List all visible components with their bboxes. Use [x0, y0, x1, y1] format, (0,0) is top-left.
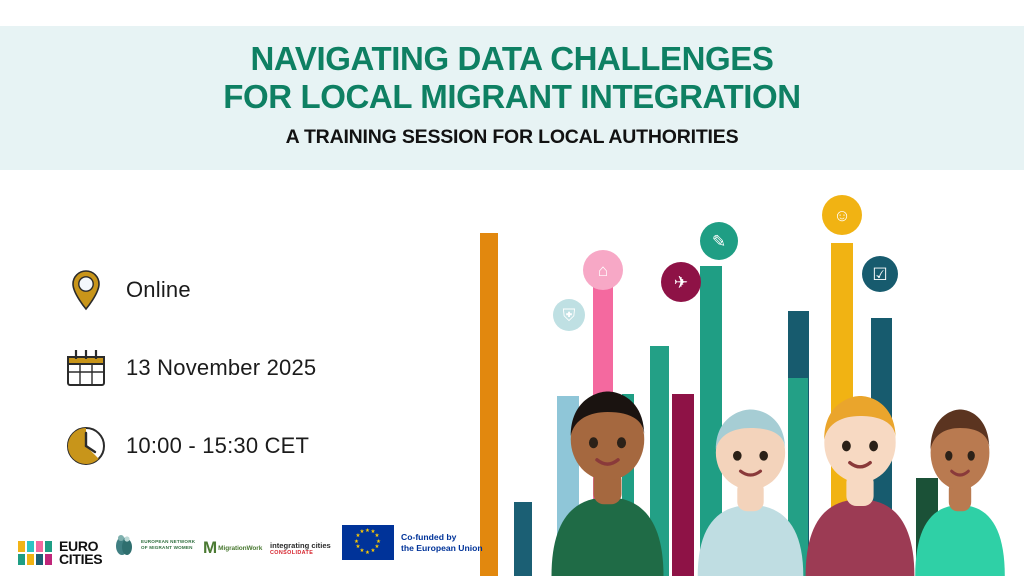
header-text-block: NAVIGATING DATA CHALLENGES FOR LOCAL MIG…: [0, 40, 1024, 149]
detail-row-date: 13 November 2025: [62, 340, 392, 396]
migrationwork-mark-icon: M: [203, 542, 215, 554]
detail-date-label: 13 November 2025: [126, 355, 316, 381]
logo-migrationwork: M MigrationWork: [203, 542, 262, 554]
eurocities-square: [36, 541, 43, 552]
detail-location-label: Online: [126, 277, 191, 303]
eurocities-square: [27, 554, 34, 565]
clock-icon: [62, 422, 110, 470]
eu-star-icon: ★: [371, 549, 376, 554]
poster-canvas: ⛨⌂✈✎☺☑ NAVIGATING DATA CHALLENGES FOR LO…: [0, 0, 1024, 576]
eurocities-square: [36, 554, 43, 565]
shield-health-icon: ⛨: [553, 299, 585, 331]
enomw-line-2: OF MIGRANT WOMEN: [141, 545, 195, 551]
detail-row-location: Online: [62, 262, 392, 318]
eu-star-icon: ★: [355, 545, 360, 550]
eu-star-icon: ★: [365, 551, 370, 556]
eurocities-square: [45, 541, 52, 552]
eu-text-line-1: Co-funded by: [401, 532, 483, 543]
eurocities-square: [18, 554, 25, 565]
eu-star-icon: ★: [354, 540, 359, 545]
teacher-icon: ✎: [700, 222, 738, 260]
integrating-cities-line-2: CONSOLIDATE: [270, 550, 331, 556]
footer-logo-bar: EURO CITIES EUROPEAN NETWORK OF MIGRANT …: [0, 512, 1024, 576]
logo-integrating-cities: integrating cities CONSOLIDATE: [270, 541, 331, 556]
eu-star-icon: ★: [365, 529, 370, 534]
speaker-person-icon: ☺: [822, 195, 862, 235]
event-details-list: Online 13 November 2025: [62, 262, 392, 496]
eu-star-icon: ★: [360, 530, 365, 535]
integrating-cities-line-1: integrating cities: [270, 541, 331, 550]
eu-text-line-2: the European Union: [401, 543, 483, 554]
calendar-icon: [62, 344, 110, 392]
eurocities-word-2: CITIES: [59, 553, 102, 566]
page-title-line-2: FOR LOCAL MIGRANT INTEGRATION: [0, 78, 1024, 116]
eurocities-square: [27, 541, 34, 552]
eurocities-square: [45, 554, 52, 565]
eu-flag-icon: ★★★★★★★★★★★★: [342, 525, 394, 560]
eurocities-mark: [18, 541, 52, 565]
eurocities-square: [18, 541, 25, 552]
enomw-mark-icon: [112, 532, 138, 558]
location-pin-icon: [62, 266, 110, 314]
airplane-icon: ✈: [661, 262, 701, 302]
logo-eu-cofunded: ★★★★★★★★★★★★ Co-funded by the European U…: [342, 525, 483, 560]
page-title-line-1: NAVIGATING DATA CHALLENGES: [0, 40, 1024, 78]
house-icon: ⌂: [583, 250, 623, 290]
detail-row-time: 10:00 - 15:30 CET: [62, 418, 392, 474]
logo-enomw: EUROPEAN NETWORK OF MIGRANT WOMEN: [112, 532, 195, 558]
detail-time-label: 10:00 - 15:30 CET: [126, 433, 309, 459]
logo-eurocities: EURO CITIES: [18, 540, 102, 566]
migrationwork-name: MigrationWork: [218, 545, 262, 552]
briefcase-icon: ☑: [862, 256, 898, 292]
page-subtitle: A TRAINING SESSION FOR LOCAL AUTHORITIES: [0, 126, 1024, 149]
